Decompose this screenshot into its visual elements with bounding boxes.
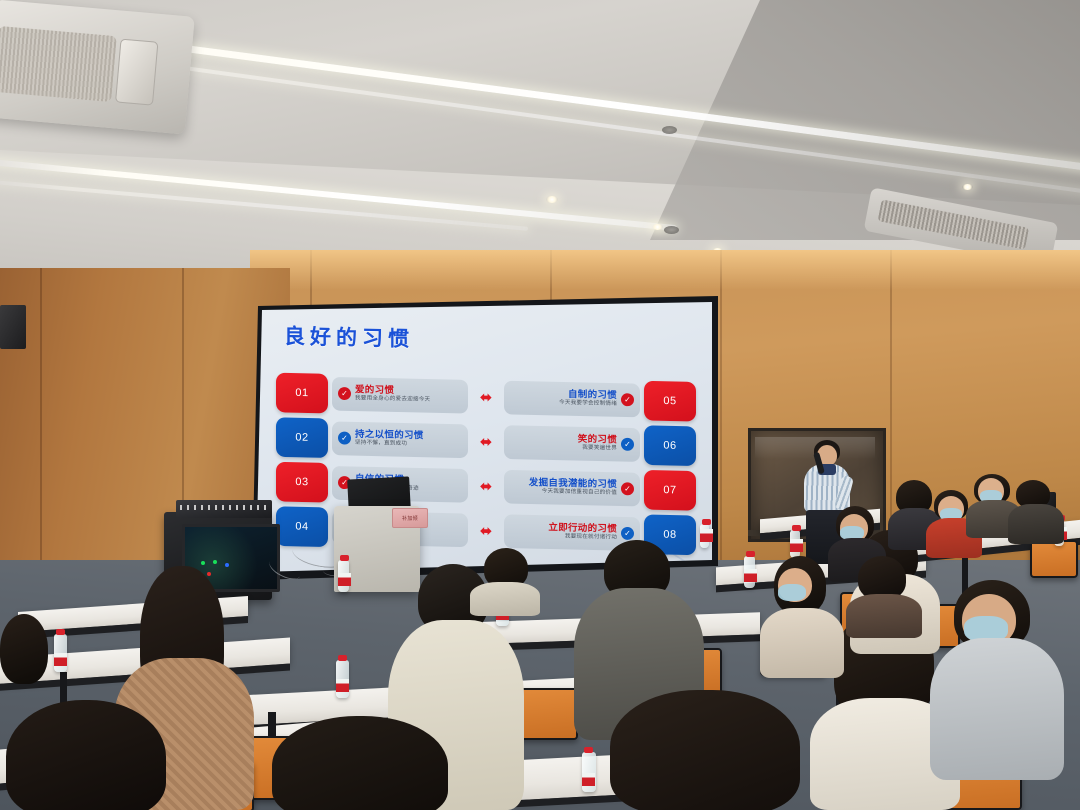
audience-member-16 xyxy=(760,556,840,676)
habit-subtitle-07: 今天我要加倍重视自己的价值 xyxy=(529,489,617,497)
bottle-label xyxy=(336,679,349,692)
bottle-label xyxy=(582,773,595,786)
habit-pill-02: ✓ 持之以恒的习惯 坚持不懈，直到成功 xyxy=(332,421,468,458)
habit-number-07: 07 xyxy=(644,469,696,510)
habit-text-07: 发掘自我潜能的习惯 今天我要加倍重视自己的价值 xyxy=(529,478,617,497)
habit-pill-06: 笑的习惯 我要笑遍世界 ✓ xyxy=(504,425,640,462)
audience-hair xyxy=(6,700,166,810)
audience-hair xyxy=(272,716,448,810)
habit-number-03: 03 xyxy=(276,461,328,502)
chair-9[interactable] xyxy=(1030,540,1078,578)
audience-member-4 xyxy=(0,700,200,810)
arrow-icon-row-3: ⬌ xyxy=(472,477,500,495)
habit-subtitle-06: 我要笑遍世界 xyxy=(578,446,617,453)
monitor-led-green-2 xyxy=(213,560,217,564)
check-icon-06: ✓ xyxy=(621,438,634,451)
monitor-led-green-1 xyxy=(201,561,205,565)
arrow-icon-row-1: ⬌ xyxy=(472,387,500,405)
habit-subtitle-05: 今天我要学会控制情绪 xyxy=(559,401,617,408)
habit-text-05: 自制的习惯 今天我要学会控制情绪 xyxy=(559,390,617,408)
water-bottle-3[interactable] xyxy=(336,660,349,698)
bottle-cap xyxy=(584,747,593,753)
bottle-label xyxy=(744,569,757,582)
bottle-label xyxy=(338,573,351,586)
downlight-8 xyxy=(962,184,973,190)
face-mask-icon xyxy=(778,584,806,601)
audience-torso xyxy=(930,638,1064,780)
wall-speaker-left xyxy=(0,305,26,349)
habit-text-02: 持之以恒的习惯 坚持不懈，直到成功 xyxy=(355,430,424,448)
bottle-cap xyxy=(702,519,711,525)
downlight-2 xyxy=(546,196,558,203)
presentation-slide: 良好的习惯 01 ✓ 爱的习惯 我要用全身心的爱去迎接今天 ⬌ xyxy=(256,300,712,572)
lectern-sign-text: 补加倾 xyxy=(402,515,418,522)
ac-vane xyxy=(115,39,158,106)
habit-pill-01: ✓ 爱的习惯 我要用全身心的爱去迎接今天 xyxy=(332,376,468,413)
water-bottle-6[interactable] xyxy=(338,560,349,592)
check-icon-05: ✓ xyxy=(621,393,634,406)
audience-torso xyxy=(1008,504,1064,544)
audience-torso xyxy=(760,608,844,678)
bottle-cap xyxy=(56,629,65,635)
habit-subtitle-01: 我要用全身心的爱去迎接今天 xyxy=(355,396,430,403)
check-icon-08: ✓ xyxy=(621,527,634,540)
habit-number-02: 02 xyxy=(276,417,328,458)
wall-left-seam-1 xyxy=(40,268,42,608)
water-bottle-1[interactable] xyxy=(54,634,67,672)
check-icon-02: ✓ xyxy=(338,431,351,444)
audience-hair xyxy=(0,614,48,684)
wall-seam-3 xyxy=(720,250,722,580)
check-icon-01: ✓ xyxy=(338,387,351,400)
habit-pill-05: 自制的习惯 今天我要学会控制情绪 ✓ xyxy=(504,380,640,417)
audience-torso xyxy=(470,582,540,616)
arrow-icon-row-2: ⬌ xyxy=(472,432,500,450)
audience-hair xyxy=(610,690,800,810)
mixer-knobs[interactable] xyxy=(180,505,266,510)
slide-title: 良好的习惯 xyxy=(284,320,414,353)
audience-member-14 xyxy=(1008,480,1062,544)
ceiling-ac-cassette xyxy=(0,0,195,134)
habit-number-06: 06 xyxy=(644,425,696,466)
audience-member-8 xyxy=(936,580,1056,780)
habit-subtitle-02: 坚持不懈，直到成功 xyxy=(355,441,424,448)
ac-grille xyxy=(0,26,117,102)
bottle-cap xyxy=(340,555,349,561)
audience-member-5 xyxy=(250,716,480,810)
habit-number-05: 05 xyxy=(644,380,696,421)
audience-member-17 xyxy=(0,614,50,704)
audio-mixer[interactable] xyxy=(176,500,272,518)
check-icon-07: ✓ xyxy=(621,482,634,495)
habit-text-08: 立即行动的习惯 我要现在就付诸行动 xyxy=(548,523,617,541)
wall-cove-glow xyxy=(250,250,1080,290)
bottle-label xyxy=(54,653,67,666)
habit-pill-07: 发掘自我潜能的习惯 今天我要加倍重视自己的价值 ✓ xyxy=(504,469,640,506)
audience-member-15 xyxy=(846,556,920,636)
smoke-detector-2 xyxy=(662,126,677,134)
downlight-3 xyxy=(652,224,663,230)
smoke-detector-1 xyxy=(664,226,679,234)
training-room-photo: 良好的习惯 01 ✓ 爱的习惯 我要用全身心的爱去迎接今天 ⬌ xyxy=(0,0,1080,810)
projection-screen[interactable]: 良好的习惯 01 ✓ 爱的习惯 我要用全身心的爱去迎接今天 ⬌ xyxy=(256,300,712,572)
water-bottle-7[interactable] xyxy=(744,556,755,588)
habit-text-06: 笑的习惯 我要笑遍世界 xyxy=(578,435,617,453)
audience-torso xyxy=(846,594,922,638)
habit-number-01: 01 xyxy=(276,372,328,413)
bottle-cap xyxy=(746,551,755,557)
water-bottle-14[interactable] xyxy=(582,752,596,792)
audience-member-6 xyxy=(600,690,840,810)
arrow-icon-row-4: ⬌ xyxy=(472,521,500,539)
bottle-cap xyxy=(338,655,347,661)
audience-member-18 xyxy=(468,548,542,612)
lectern-sign: 补加倾 xyxy=(392,508,428,528)
habit-text-01: 爱的习惯 我要用全身心的爱去迎接今天 xyxy=(355,385,430,403)
